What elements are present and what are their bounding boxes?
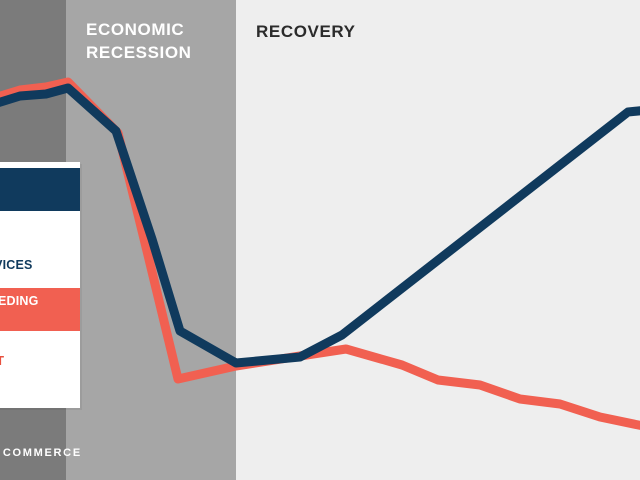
legend-label-coral-sub: MENT Y ICES [0,331,80,404]
navy-trend-line [0,88,640,363]
legend-group-coral: S NEEDING E MENT Y ICES [0,288,80,404]
legend: G S GY SERVICES S NEEDING E MENT Y ICES [0,162,80,408]
legend-chip-coral: S NEEDING E [0,288,80,331]
chart-lines [0,0,640,480]
legend-chip-navy: G S [0,168,80,211]
source-attribution: ER OF COMMERCE [0,447,82,459]
coral-trend-line [0,82,640,427]
legend-label-navy-detail: SERVICES [0,233,80,274]
chart-canvas: D S ECONOMIC RECESSION RECOVERY G S GY S… [0,0,640,480]
legend-group-navy: G S GY SERVICES [0,168,80,274]
legend-label-navy-sub: GY [0,211,80,233]
